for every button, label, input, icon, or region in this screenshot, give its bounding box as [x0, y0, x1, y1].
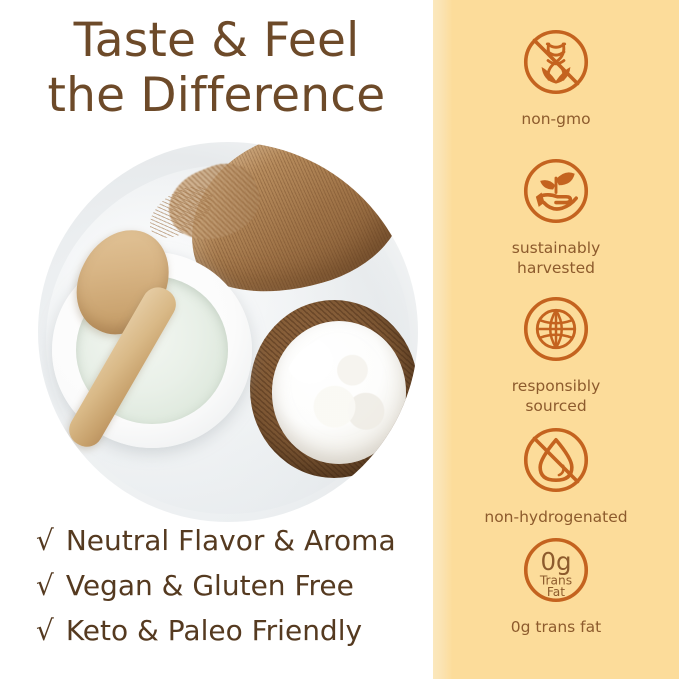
- product-photo: [38, 142, 418, 522]
- list-item-label: Neutral Flavor & Aroma: [66, 527, 396, 555]
- badge-label: non-gmo: [433, 110, 679, 130]
- zero-trans-fat-line-2: Fat: [547, 585, 565, 599]
- badge-zero-trans-fat: 0g Trans Fat 0g trans fat: [433, 534, 679, 638]
- product-infographic: Taste & Feel the Difference √ Neutral Fl…: [0, 0, 679, 679]
- badge-label: responsibly sourced: [433, 377, 679, 416]
- feature-list: √ Neutral Flavor & Aroma √ Vegan & Glute…: [36, 527, 431, 662]
- check-icon: √: [36, 572, 54, 600]
- badge-label: non-hydrogenated: [433, 508, 679, 528]
- coconut-oil-in-shell: [272, 321, 406, 463]
- badge-label: sustainably harvested: [433, 239, 679, 278]
- benefits-panel: non-gmo sustainably harvested: [433, 0, 679, 679]
- non-gmo-icon: [433, 26, 679, 103]
- list-item: √ Keto & Paleo Friendly: [36, 617, 431, 645]
- list-item-label: Keto & Paleo Friendly: [66, 617, 362, 645]
- left-panel: Taste & Feel the Difference √ Neutral Fl…: [0, 0, 433, 679]
- badge-non-hydrogenated: non-hydrogenated: [433, 424, 679, 528]
- headline-line-1: Taste & Feel: [0, 14, 433, 69]
- check-icon: √: [36, 617, 54, 645]
- list-item: √ Neutral Flavor & Aroma: [36, 527, 431, 555]
- list-item: √ Vegan & Gluten Free: [36, 572, 431, 600]
- zero-trans-fat-amount: 0g: [540, 547, 571, 576]
- badge-sustainably-harvested: sustainably harvested: [433, 155, 679, 278]
- sustainably-harvested-icon: [433, 155, 679, 232]
- responsibly-sourced-icon: [433, 293, 679, 370]
- halved-coconut-image: [250, 300, 418, 478]
- badge-label: 0g trans fat: [433, 618, 679, 638]
- non-hydrogenated-icon: [433, 424, 679, 501]
- page-title: Taste & Feel the Difference: [0, 14, 433, 123]
- badge-non-gmo: non-gmo: [433, 26, 679, 130]
- check-icon: √: [36, 527, 54, 555]
- zero-trans-fat-icon: 0g Trans Fat: [433, 534, 679, 611]
- headline-line-2: the Difference: [0, 69, 433, 124]
- badge-responsibly-sourced: responsibly sourced: [433, 293, 679, 416]
- list-item-label: Vegan & Gluten Free: [66, 572, 354, 600]
